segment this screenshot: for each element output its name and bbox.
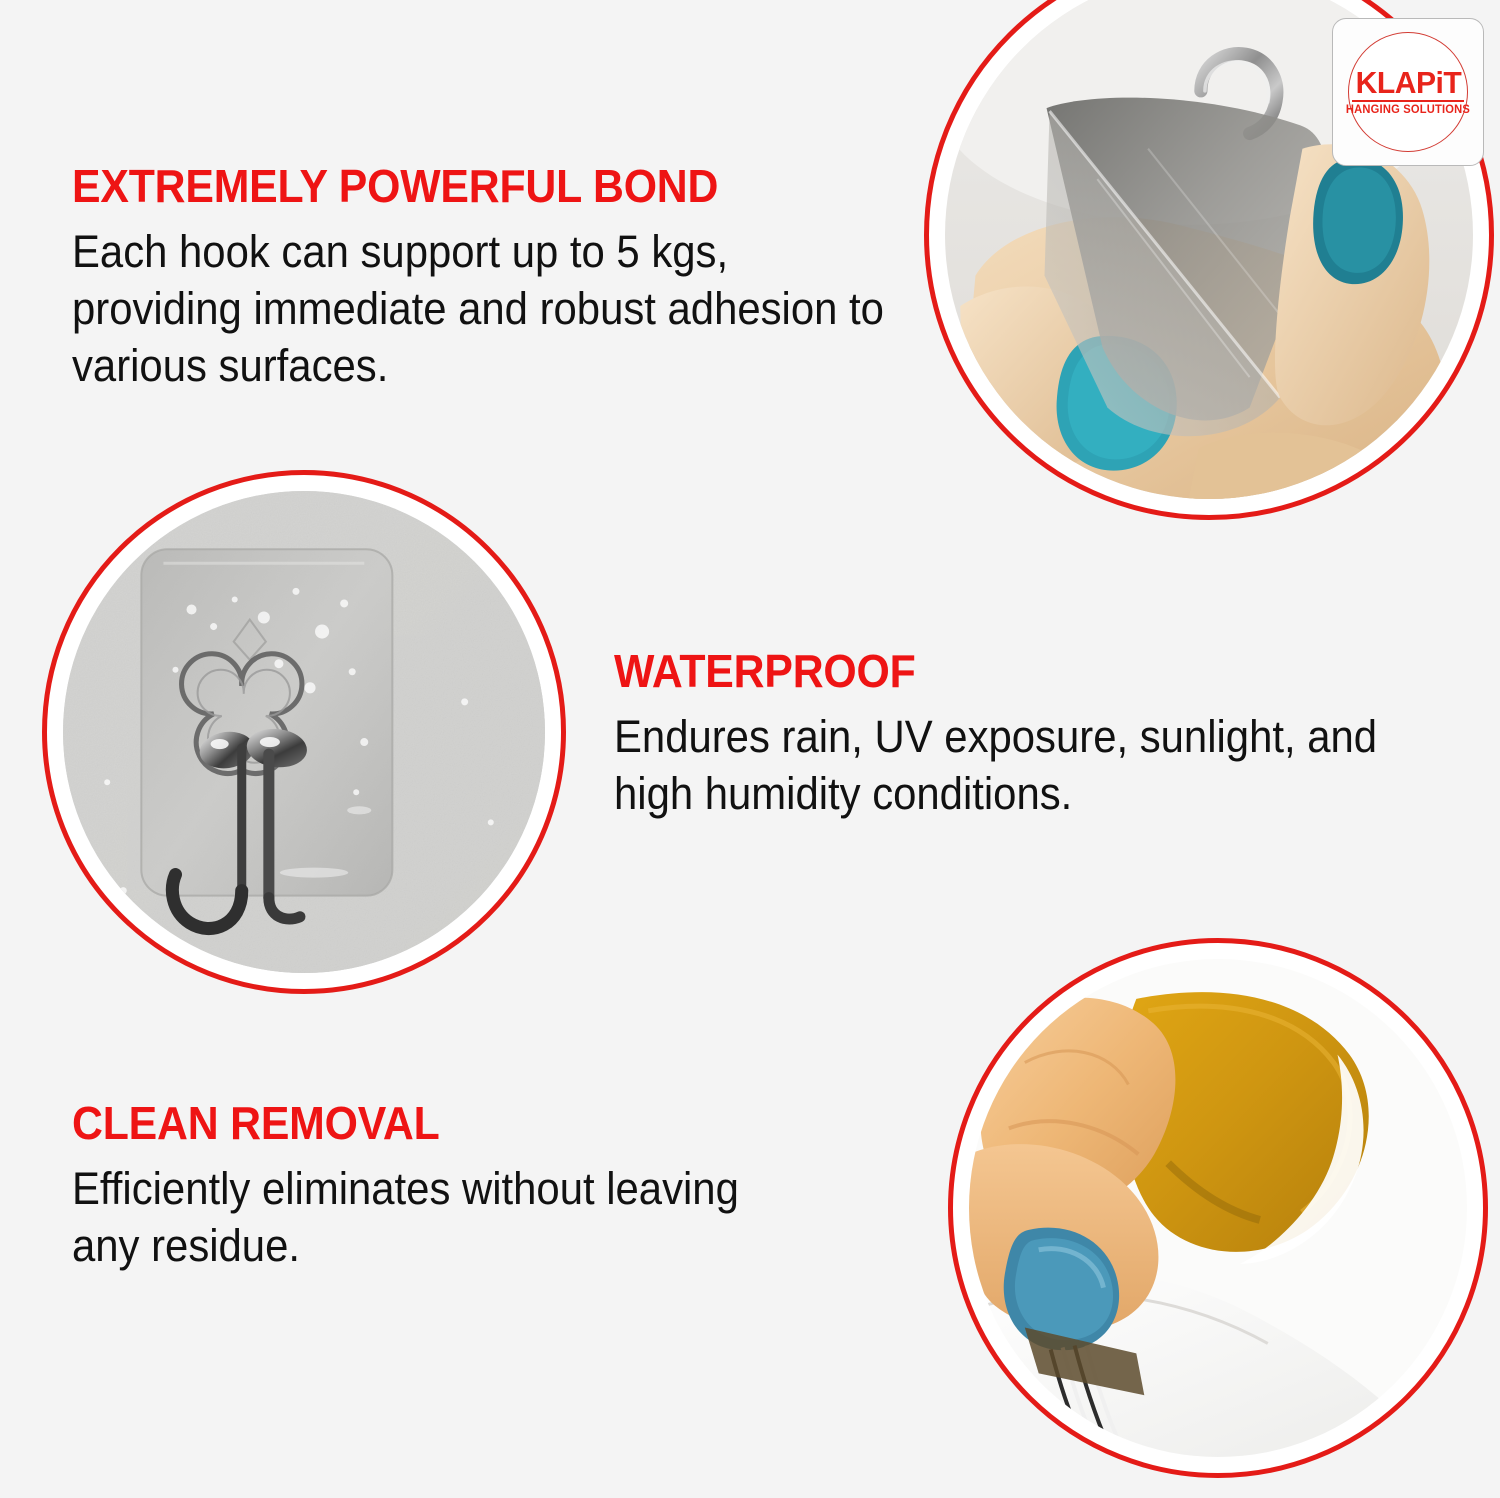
photo-waterproof xyxy=(42,470,566,994)
feature-body-waterproof: Endures rain, UV exposure, sunlight, and… xyxy=(614,708,1442,822)
feature-block-powerful-bond: EXTREMELY POWERFUL BOND Each hook can su… xyxy=(72,163,952,394)
photo-waterproof-image xyxy=(63,491,545,973)
brand-logo-disc: KLAPiT HANGING SOLUTIONS xyxy=(1348,32,1468,152)
feature-heading-clean-removal: CLEAN REMOVAL xyxy=(72,1100,807,1146)
photo-clean-removal-image xyxy=(969,959,1467,1457)
feature-body-clean-removal: Efficiently eliminates without leaving a… xyxy=(72,1160,807,1274)
feature-body-powerful-bond: Each hook can support up to 5 kgs, provi… xyxy=(72,223,890,394)
product-feature-infographic: KLAPiT HANGING SOLUTIONS EXTREMELY POWER… xyxy=(0,0,1500,1498)
photo-clean-removal xyxy=(948,938,1488,1478)
feature-block-clean-removal: CLEAN REMOVAL Efficiently eliminates wit… xyxy=(72,1100,862,1274)
feature-heading-powerful-bond: EXTREMELY POWERFUL BOND xyxy=(72,163,890,209)
feature-block-waterproof: WATERPROOF Endures rain, UV exposure, su… xyxy=(614,648,1500,822)
brand-tagline: HANGING SOLUTIONS xyxy=(1346,104,1470,117)
brand-logo-divider xyxy=(1352,100,1464,102)
brand-wordmark: KLAPiT xyxy=(1355,68,1461,98)
feature-heading-waterproof: WATERPROOF xyxy=(614,648,1442,694)
brand-logo: KLAPiT HANGING SOLUTIONS xyxy=(1332,18,1484,166)
